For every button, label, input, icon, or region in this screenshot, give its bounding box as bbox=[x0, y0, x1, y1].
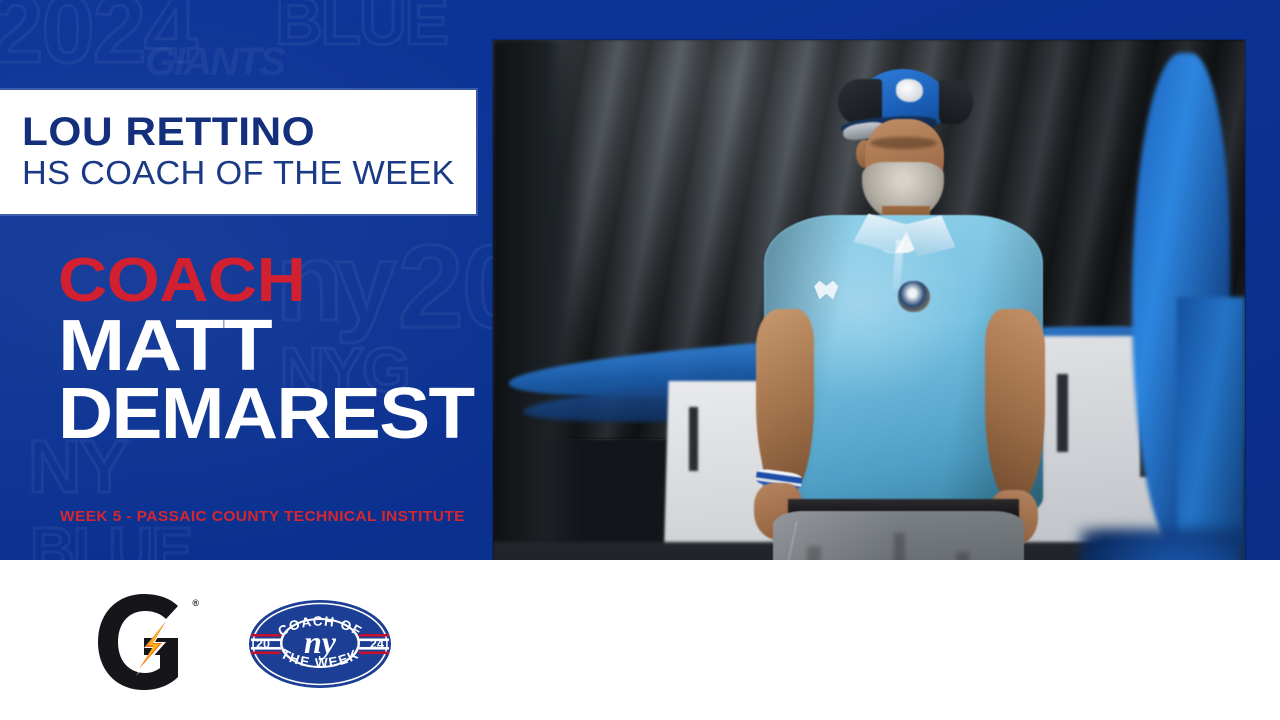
coach-of-the-week-graphic: 2024 BLUE GIANTS ny NYG 2024 NY BLUE bbox=[0, 0, 1280, 720]
cap-mesh-right bbox=[939, 80, 973, 124]
badge-year-right: 24 bbox=[370, 637, 384, 651]
team-crest-icon bbox=[898, 281, 929, 312]
gatorade-g-icon bbox=[92, 592, 196, 692]
presenter-banner: LOU RETTINO HS COACH OF THE WEEK bbox=[0, 90, 476, 214]
presenter-title: HS COACH OF THE WEEK bbox=[22, 155, 494, 192]
gatorade-registered-mark: ® bbox=[192, 598, 199, 608]
badge-year-left: 20 bbox=[256, 637, 270, 651]
watermark-giants: GIANTS bbox=[145, 42, 284, 82]
brow-shadow bbox=[870, 137, 937, 149]
headline-first-name: MATT bbox=[58, 313, 540, 381]
coach-of-the-week-badge: ny COACH OF THE WEEK 20 24 bbox=[246, 597, 394, 691]
watermark-blue-top: BLUE bbox=[275, 0, 447, 54]
gatorade-logo: ® bbox=[92, 592, 196, 692]
badge-artwork: ny COACH OF THE WEEK 20 24 bbox=[246, 597, 394, 691]
cap-team-logo-icon bbox=[896, 79, 923, 101]
headline-last-name: DEMAREST bbox=[58, 381, 514, 449]
presenter-name: LOU RETTINO bbox=[22, 112, 503, 153]
week-and-school-line: WEEK 5 - PASSAIC COUNTY TECHNICAL INSTIT… bbox=[60, 508, 465, 525]
headline-block: COACH MATT DEMAREST bbox=[58, 252, 488, 448]
headline-role-label: COACH bbox=[58, 252, 531, 309]
arm-right bbox=[985, 309, 1045, 502]
arm-left bbox=[756, 309, 814, 496]
